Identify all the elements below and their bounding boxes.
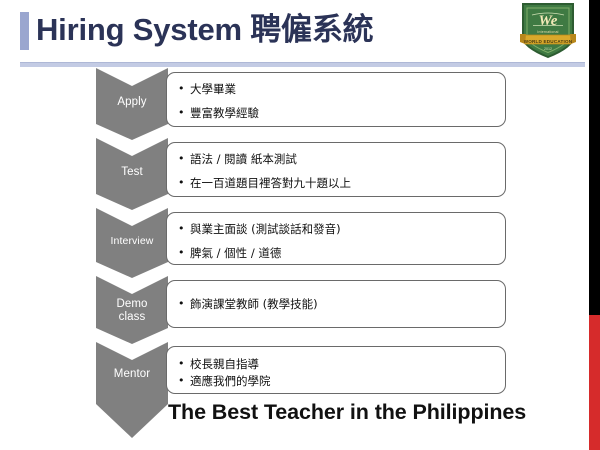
process-step-bullet: 大學畢業 — [175, 82, 505, 96]
chevron-shape — [96, 342, 168, 438]
process-step-bullet: 在一百道題目裡答對九十題以上 — [175, 176, 505, 190]
process-step-bullet: 與業主面談 (測試談話和發音) — [175, 222, 505, 236]
process-step-bullet: 豐富教學經驗 — [175, 106, 505, 120]
process-step-label-line: Demo — [96, 298, 168, 311]
process-step-bullet: 飾演課堂教師 (教學技能) — [175, 297, 505, 311]
process-step-bullet-list: 語法 / 閱讀 紙本測試在一百道題目裡答對九十題以上 — [167, 143, 505, 190]
process-step-detail-box: 大學畢業豐富教學經驗 — [166, 72, 506, 127]
process-step-bullet: 語法 / 閱讀 紙本測試 — [175, 152, 505, 166]
tagline: The Best Teacher in the Philippines — [168, 400, 526, 425]
process-step-label-line: Test — [96, 166, 168, 179]
process-step-label: Interview — [96, 235, 168, 248]
process-step-bullet-list: 與業主面談 (測試談話和發音)脾氣 / 個性 / 道德 — [167, 213, 505, 260]
process-step-bullet: 適應我們的學院 — [175, 374, 505, 388]
process-step-detail-box: 與業主面談 (測試談話和發音)脾氣 / 個性 / 道德 — [166, 212, 506, 265]
process-step-bullet: 校長親自指導 — [175, 357, 505, 371]
process-step-label-line: class — [96, 311, 168, 324]
process-step-label: Mentor — [96, 368, 168, 381]
process-step-bullet-list: 飾演課堂教師 (教學技能) — [167, 281, 505, 311]
process-step-bullet-list: 大學畢業豐富教學經驗 — [167, 73, 505, 120]
process-step-label: Democlass — [96, 298, 168, 324]
hiring-process-diagram: Apply大學畢業豐富教學經驗Test語法 / 閱讀 紙本測試在一百道題目裡答對… — [0, 0, 600, 450]
process-step-bullet: 脾氣 / 個性 / 道德 — [175, 246, 505, 260]
process-step-label: Apply — [96, 96, 168, 109]
process-step-label: Test — [96, 166, 168, 179]
process-step-label-line: Interview — [96, 235, 168, 248]
process-step-detail-box: 語法 / 閱讀 紙本測試在一百道題目裡答對九十題以上 — [166, 142, 506, 197]
process-step-label-line: Apply — [96, 96, 168, 109]
process-step-bullet-list: 校長親自指導適應我們的學院 — [167, 347, 505, 388]
process-step-label-line: Mentor — [96, 368, 168, 381]
slide-canvas: Hiring System 聘僱系統 We International WORL… — [0, 0, 600, 450]
process-step-detail-box: 飾演課堂教師 (教學技能) — [166, 280, 506, 328]
process-step-detail-box: 校長親自指導適應我們的學院 — [166, 346, 506, 394]
